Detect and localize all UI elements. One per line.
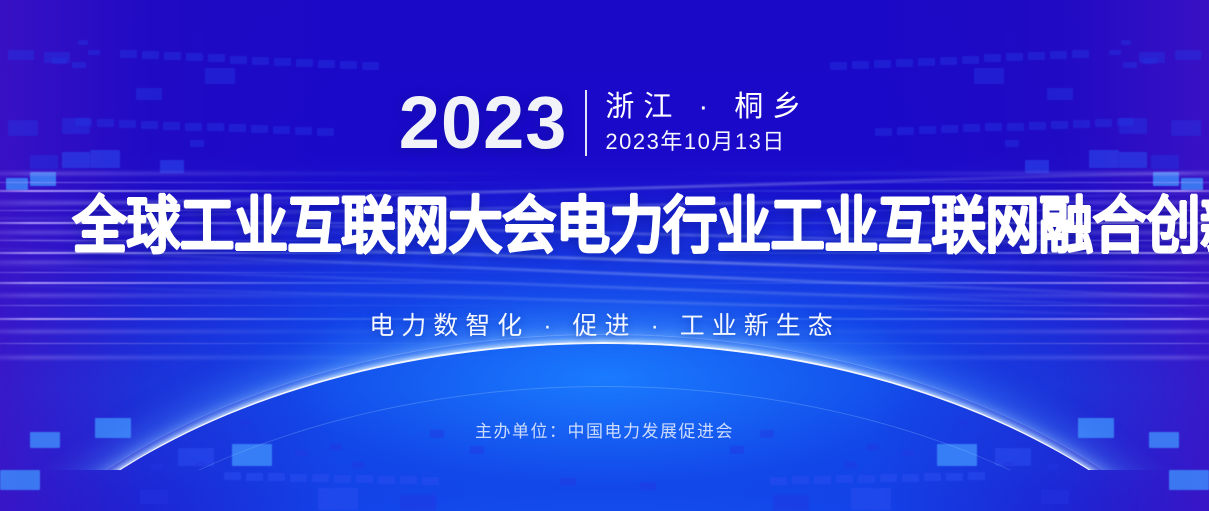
banner-content: 2023 浙江 · 桐乡 2023年10月13日 全球工业互联网大会电力行业工业… — [0, 0, 1209, 511]
event-organizer: 主办单位：中国电力发展促进会 — [0, 417, 1209, 442]
event-year: 2023 — [399, 86, 568, 160]
event-location: 浙江 · 桐乡 — [605, 92, 810, 124]
event-subtitle: 电力数智化 · 促进 · 工业新生态 — [0, 306, 1209, 342]
event-header: 2023 浙江 · 桐乡 2023年10月13日 — [0, 86, 1209, 160]
event-date: 2023年10月13日 — [605, 130, 810, 154]
event-place-block: 浙江 · 桐乡 2023年10月13日 — [605, 92, 810, 154]
header-divider — [585, 90, 587, 156]
conference-banner: 2023 浙江 · 桐乡 2023年10月13日 全球工业互联网大会电力行业工业… — [0, 0, 1209, 511]
page-title: 全球工业互联网大会电力行业工业互联网融合创新应用论坛 — [73, 196, 1137, 258]
